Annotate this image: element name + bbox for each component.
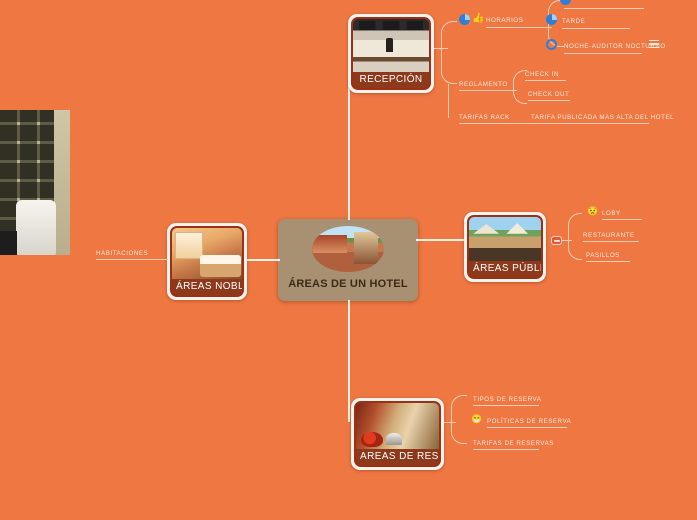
underline-noche — [564, 53, 642, 54]
white-chair — [16, 200, 56, 255]
leaf-restaurante[interactable]: RESTAURANTE — [583, 231, 635, 240]
leaf-check-out[interactable]: CHECK OUT — [528, 90, 569, 99]
connector-center-to-areas-publicas — [416, 239, 464, 241]
connector-publicas-up — [568, 213, 582, 241]
node-areas-publicas-label: ÁREAS PÚBLICAS — [469, 261, 541, 277]
worried-face-emoji: 😟 — [587, 206, 598, 216]
leaf-tarifa-publicada[interactable]: TARIFA PUBLICADA MAS ALTA DEL HOTEL — [531, 113, 674, 122]
underline-tarde — [562, 28, 630, 29]
node-areas-publicas[interactable]: ÁREAS PÚBLICAS — [464, 212, 546, 282]
wall-edge — [54, 110, 70, 255]
underline-tarifas-de-reservas — [473, 449, 539, 450]
hamburger-icon[interactable] — [649, 40, 659, 48]
connector-tarifas-rack-trunk — [521, 123, 531, 124]
underline-tarifas-rack — [459, 123, 521, 124]
underline-check-in — [525, 80, 566, 81]
node-areas-nobles-label: ÁREAS NOBLES — [172, 279, 242, 295]
leaf-tarifas-rack[interactable]: TARIFAS RACK — [459, 113, 510, 122]
collapse-toggle-icon[interactable] — [551, 236, 562, 245]
grinning-face-emoji: 😁 — [471, 414, 482, 424]
leaf-tipos-de-reserva[interactable]: TIPOS DE RESERVA — [473, 395, 541, 404]
dark-object — [0, 231, 17, 255]
leaf-tarde[interactable]: TARDE — [562, 17, 585, 26]
connector-reservas-down — [451, 422, 467, 444]
leaf-reglamento[interactable]: REGLAMENTO — [459, 80, 508, 89]
underline-reglamento — [459, 90, 509, 91]
central-node-areas-de-un-hotel[interactable]: ÁREAS DE UN HOTEL — [278, 219, 418, 301]
leaf-check-in[interactable]: CHECK IN — [525, 70, 559, 79]
terrace-photo — [469, 217, 541, 261]
node-recepcion[interactable]: RECEPCIÓN — [348, 14, 434, 93]
connector-recepcion-up — [441, 21, 457, 49]
leaf-tarifas-de-reservas[interactable]: TARIFAS DE RESERVAS — [473, 439, 554, 448]
underline-tipos-de-reserva — [473, 405, 539, 406]
underline-horarios — [486, 27, 542, 28]
leaf-politicas-de-reserva[interactable]: POLÍTICAS DE RESERVA — [487, 417, 571, 426]
thumbs-up-icon: 👍 — [472, 14, 484, 24]
connector-recepcion-down — [441, 48, 457, 84]
node-areas-de-reservas-label: AREAS DE RESERVAS — [356, 449, 439, 465]
hotel-room-photo — [172, 228, 242, 279]
glass-block-wall-photo — [0, 110, 70, 255]
underline-habitaciones — [96, 259, 164, 260]
connector-center-to-reservas — [348, 300, 350, 422]
underline-politicas-de-reserva — [487, 427, 567, 428]
circle-outline-icon-noche — [546, 39, 557, 50]
front-desk-bell-photo — [356, 403, 439, 449]
connector-reglamento-down — [513, 90, 527, 104]
leaf-loby[interactable]: LOBY — [602, 209, 621, 218]
underline-pasillos — [586, 261, 630, 262]
connector-publicas-down — [568, 240, 582, 260]
underline-check-out — [528, 100, 570, 101]
reception-desk-photo — [353, 19, 429, 72]
central-node-label: ÁREAS DE UN HOTEL — [288, 278, 408, 290]
underline-cut-off-node — [564, 8, 644, 9]
underline-tarifa-publicada — [531, 123, 649, 124]
leaf-pasillos[interactable]: PASILLOS — [586, 251, 620, 260]
underline-loby — [602, 219, 642, 220]
connector-reservas-up — [451, 395, 467, 423]
node-recepcion-label: RECEPCIÓN — [353, 72, 429, 88]
underline-restaurante — [583, 241, 639, 242]
connector-recepcion-vertical — [448, 84, 449, 118]
leaf-horarios[interactable]: HORARIOS — [486, 16, 523, 25]
leaf-habitaciones[interactable]: HABITACIONES — [96, 249, 148, 258]
node-areas-de-reservas[interactable]: AREAS DE RESERVAS — [351, 398, 444, 470]
mindmap-canvas: ÁREAS DE UN HOTEL RECEPCIÓN 👍 HORARIOS T… — [0, 0, 697, 520]
pie-chart-icon-tarde — [546, 14, 557, 25]
pie-chart-icon — [459, 14, 470, 25]
hotel-courtyard-photo — [312, 226, 384, 272]
node-areas-nobles[interactable]: ÁREAS NOBLES — [167, 223, 247, 300]
